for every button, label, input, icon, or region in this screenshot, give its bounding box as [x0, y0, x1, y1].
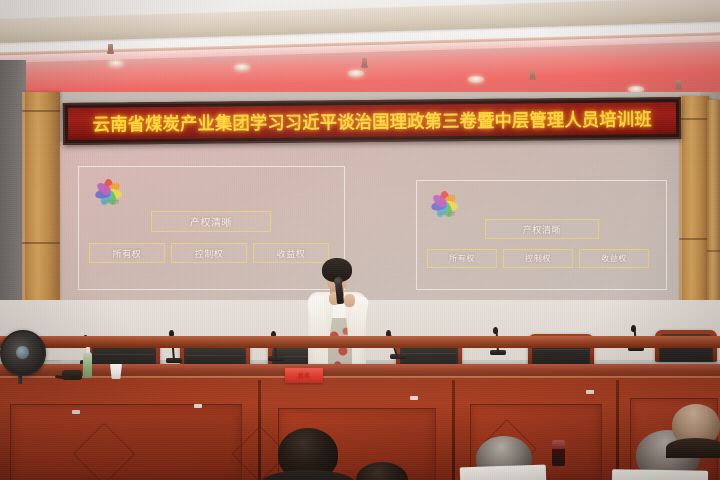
sprinkler-icon [530, 70, 535, 79]
gavel-icon [62, 370, 82, 380]
sprinkler-icon [362, 58, 367, 67]
dais-hardware [410, 396, 418, 400]
slide-title-box: 产权清晰 [151, 211, 271, 232]
rainbow-pinwheel-logo: 清华学堂 [93, 177, 127, 211]
slide-box-ownership: 所有权 [427, 249, 497, 268]
audience-papers [612, 469, 708, 480]
logo-caption: 清华学堂 [95, 199, 127, 205]
dais-hardware [194, 404, 202, 408]
downlight-icon [468, 76, 484, 83]
microphone-base [390, 354, 406, 359]
projected-slide-right: 清华学堂 产权清晰 所有权 控制权 收益权 [416, 180, 667, 290]
slide-title-text: 产权清晰 [523, 223, 561, 236]
projected-slide-left: 清华学堂 产权清晰 所有权 控制权 收益权 [78, 166, 345, 290]
water-bottle-icon [83, 352, 92, 378]
slide-title-text: 产权清晰 [190, 214, 232, 229]
thermos-tumbler-icon [552, 440, 565, 466]
downlight-icon [234, 64, 250, 71]
red-name-placard: 姓名 [285, 368, 323, 383]
microphone-head-icon [631, 325, 636, 332]
slide-box-profit: 收益权 [253, 243, 329, 263]
led-banner-screen: 云南省煤炭产业集团学习习近平谈治国理政第三卷暨中层管理人员培训班 [68, 102, 676, 140]
sprinkler-icon [108, 44, 113, 53]
slide-box-control: 控制权 [503, 249, 573, 268]
slide-box-label: 收益权 [277, 247, 306, 260]
audience-shoulder [666, 438, 720, 458]
pedestal-fan-icon [0, 330, 46, 376]
dais-upper-ledge [0, 336, 720, 348]
slide-box-ownership: 所有权 [89, 243, 165, 263]
slide-box-control: 控制权 [171, 243, 247, 263]
sprinkler-icon [676, 80, 681, 89]
dais-seam [452, 380, 455, 480]
slide-box-label: 所有权 [113, 247, 142, 260]
audience-papers [460, 465, 547, 480]
microphone-head-icon [493, 327, 498, 334]
rainbow-pinwheel-logo: 清华学堂 [429, 189, 463, 223]
slide-title-box: 产权清晰 [485, 219, 599, 239]
fan-hub [16, 346, 29, 359]
dais-hardware [586, 390, 594, 394]
downlight-icon [348, 70, 364, 77]
speaker-hand [344, 294, 355, 307]
slide-box-profit: 收益权 [579, 249, 649, 268]
led-banner-text: 云南省煤炭产业集团学习习近平谈治国理政第三卷暨中层管理人员培训班 [92, 105, 651, 136]
paper-cup-icon [110, 364, 122, 379]
downlight-icon [108, 60, 124, 67]
logo-caption: 清华学堂 [431, 211, 463, 217]
slide-box-label: 控制权 [195, 247, 224, 260]
led-banner: 云南省煤炭产业集团学习习近平谈治国理政第三卷暨中层管理人员培训班 [63, 97, 681, 145]
name-placard-text: 姓名 [285, 371, 323, 380]
dais-hardware [72, 410, 80, 414]
conference-hall-photo: 清华学堂 产权清晰 所有权 控制权 收益权 清华学堂 产权清晰 [0, 0, 720, 480]
dais-decor-panel [10, 404, 242, 480]
slide-box-label: 控制权 [525, 253, 551, 264]
slide-box-label: 收益权 [601, 253, 627, 264]
slide-box-label: 所有权 [449, 253, 475, 264]
dais-seam [616, 380, 619, 480]
